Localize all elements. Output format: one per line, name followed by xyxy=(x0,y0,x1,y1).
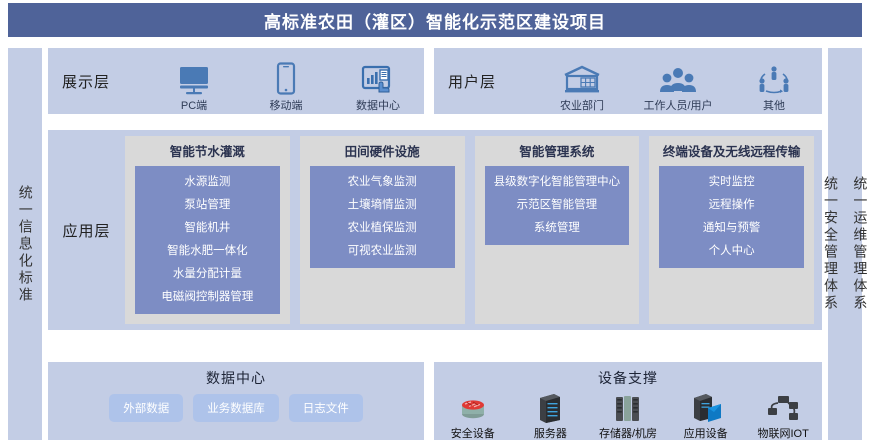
user-layer-panel: 用户层 农业部门 xyxy=(434,48,822,114)
equipment-item-iot[interactable]: 物联网IOT xyxy=(747,390,819,441)
application-device-icon xyxy=(690,390,722,424)
app-column-item[interactable]: 智能水肥一体化 xyxy=(165,240,250,263)
people-group-icon xyxy=(659,59,697,95)
app-column-title: 田间硬件设施 xyxy=(345,144,420,161)
app-column-item[interactable]: 泵站管理 xyxy=(182,194,232,217)
architecture-diagram: 高标准农田（灌区）智能化示范区建设项目 统一信息化标准 统一安全管理体系 统一运… xyxy=(0,0,870,445)
rail-management-systems: 统一安全管理体系 统一运维管理体系 xyxy=(828,48,862,440)
iot-network-icon xyxy=(766,390,800,424)
equipment-item-caption: 服务器 xyxy=(534,425,567,441)
collaboration-cycle-icon xyxy=(756,59,792,95)
app-column-title: 智能节水灌溉 xyxy=(170,144,245,161)
application-layer-panel: 应用层 智能节水灌溉 水源监测 泵站管理 智能机井 智能水肥一体化 水量分配计量… xyxy=(48,130,822,330)
user-layer-label: 用户层 xyxy=(434,71,534,92)
equipment-support-panel: 设备支撑 安全设备 xyxy=(434,362,822,440)
app-column-item[interactable]: 远程操作 xyxy=(707,194,757,217)
equipment-item-server[interactable]: 服务器 xyxy=(514,390,586,441)
display-layer-panel: 展示层 PC端 xyxy=(48,48,424,114)
mobile-phone-icon xyxy=(275,59,297,95)
equipment-item-storage[interactable]: 存储器/机房 xyxy=(592,390,664,441)
equipment-item-application-device[interactable]: 应用设备 xyxy=(670,390,742,441)
display-item-data-center[interactable]: 数据中心 xyxy=(335,59,421,113)
app-column-item[interactable]: 土壤墒情监测 xyxy=(346,194,419,217)
display-item-caption: PC端 xyxy=(181,97,207,113)
display-item-caption: 移动端 xyxy=(270,97,303,113)
user-item-agriculture-dept[interactable]: 农业部门 xyxy=(539,59,625,113)
user-item-other[interactable]: 其他 xyxy=(731,59,817,113)
app-column-field-hardware[interactable]: 田间硬件设施 农业气象监测 土壤墒情监测 农业植保监测 可视农业监测 xyxy=(300,136,465,324)
tablet-chart-icon xyxy=(361,59,395,95)
rail-right-ops-label: 统一运维管理体系 xyxy=(852,176,867,312)
rail-right-security-label: 统一安全管理体系 xyxy=(823,176,838,312)
user-item-staff[interactable]: 工作人员/用户 xyxy=(635,59,721,113)
data-center-title: 数据中心 xyxy=(48,362,424,388)
monitor-icon xyxy=(177,59,211,95)
app-column-smart-irrigation[interactable]: 智能节水灌溉 水源监测 泵站管理 智能机井 智能水肥一体化 水量分配计量 电磁阀… xyxy=(125,136,290,324)
app-column-title: 终端设备及无线远程传输 xyxy=(663,144,801,161)
display-item-caption: 数据中心 xyxy=(356,97,400,113)
app-column-item[interactable]: 农业植保监测 xyxy=(346,217,419,240)
equipment-item-caption: 存储器/机房 xyxy=(599,425,657,441)
app-column-item[interactable]: 实时监控 xyxy=(707,171,757,194)
equipment-item-caption: 物联网IOT xyxy=(758,425,809,441)
server-icon xyxy=(536,390,564,424)
government-building-icon xyxy=(563,59,601,95)
equipment-item-caption: 应用设备 xyxy=(684,425,728,441)
app-column-management-system[interactable]: 智能管理系统 县级数字化智能管理中心 示范区智能管理 系统管理 xyxy=(475,136,640,324)
display-layer-label: 展示层 xyxy=(48,71,148,92)
equipment-item-caption: 安全设备 xyxy=(451,425,495,441)
app-column-item[interactable]: 示范区智能管理 xyxy=(515,194,600,217)
rail-information-standard: 统一信息化标准 xyxy=(8,48,42,440)
display-item-mobile[interactable]: 移动端 xyxy=(243,59,329,113)
storage-rack-icon xyxy=(613,390,643,424)
app-column-item[interactable]: 水源监测 xyxy=(182,171,232,194)
app-column-item[interactable]: 县级数字化智能管理中心 xyxy=(492,171,623,194)
rail-left-label: 统一信息化标准 xyxy=(17,185,32,304)
equipment-support-title: 设备支撑 xyxy=(434,362,822,388)
app-column-item[interactable]: 系统管理 xyxy=(532,217,582,240)
app-column-item[interactable]: 电磁阀控制器管理 xyxy=(159,286,255,309)
user-item-caption: 其他 xyxy=(763,97,785,113)
app-column-title: 智能管理系统 xyxy=(519,144,594,161)
router-security-icon xyxy=(456,390,490,424)
data-center-item[interactable]: 日志文件 xyxy=(289,394,363,422)
app-column-item[interactable]: 个人中心 xyxy=(707,240,757,263)
app-column-item[interactable]: 可视农业监测 xyxy=(346,240,419,263)
data-center-item[interactable]: 业务数据库 xyxy=(193,394,279,422)
user-item-caption: 工作人员/用户 xyxy=(643,97,712,113)
app-column-terminal-transmission[interactable]: 终端设备及无线远程传输 实时监控 远程操作 通知与预警 个人中心 xyxy=(649,136,814,324)
app-column-item[interactable]: 水量分配计量 xyxy=(171,263,244,286)
page-title: 高标准农田（灌区）智能化示范区建设项目 xyxy=(8,3,862,37)
equipment-item-security[interactable]: 安全设备 xyxy=(437,390,509,441)
app-column-item[interactable]: 智能机井 xyxy=(182,217,232,240)
data-center-panel: 数据中心 外部数据 业务数据库 日志文件 xyxy=(48,362,424,440)
app-column-item[interactable]: 通知与预警 xyxy=(701,217,763,240)
user-item-caption: 农业部门 xyxy=(560,97,604,113)
application-layer-label: 应用层 xyxy=(48,130,125,330)
data-center-item[interactable]: 外部数据 xyxy=(109,394,183,422)
display-item-pc[interactable]: PC端 xyxy=(151,59,237,113)
app-column-item[interactable]: 农业气象监测 xyxy=(346,171,419,194)
